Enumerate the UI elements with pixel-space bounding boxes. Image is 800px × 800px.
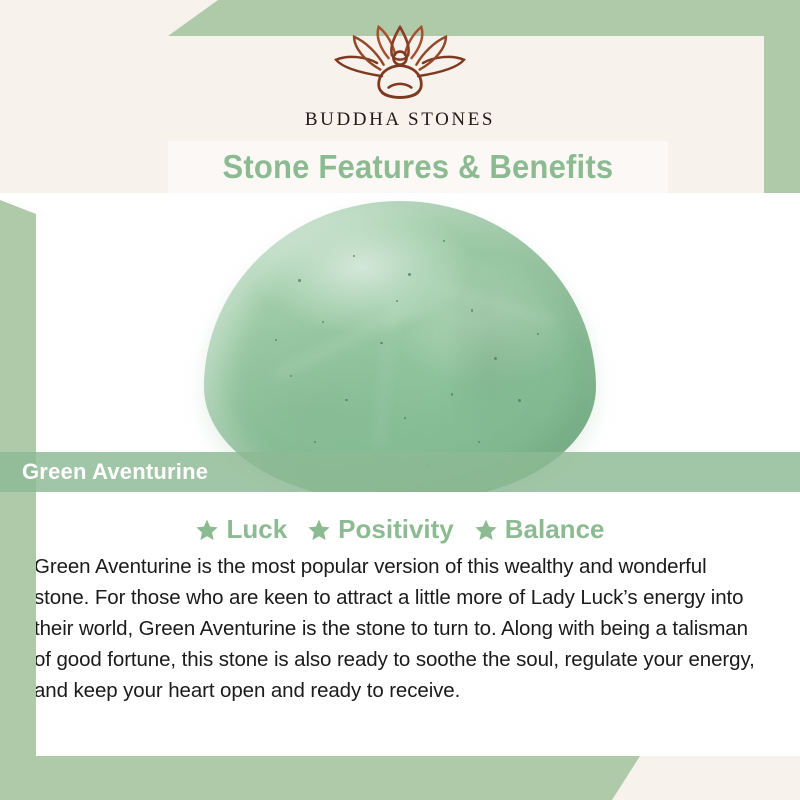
frame-bottom-bar	[0, 756, 640, 800]
star-icon	[307, 518, 331, 542]
description-paragraph: Green Aventurine is the most popular ver…	[34, 551, 766, 706]
benefit-item: Balance	[474, 514, 605, 545]
benefit-label: Balance	[505, 514, 605, 545]
stone-name-label: Green Aventurine	[22, 459, 208, 485]
benefit-item: Luck	[195, 514, 287, 545]
stone-photo	[0, 193, 800, 492]
brand-header: BUDDHA STONES	[0, 0, 800, 145]
frame-corner-notch	[764, 756, 800, 800]
title-banner: Stone Features & Benefits	[168, 141, 668, 193]
stone-speckles	[204, 201, 596, 492]
star-icon	[195, 518, 219, 542]
star-icon	[474, 518, 498, 542]
benefit-label: Luck	[226, 514, 287, 545]
green-aventurine-stone	[204, 201, 596, 492]
benefits-row: Luck Positivity Balance	[34, 492, 766, 551]
stone-label-bar: Green Aventurine	[0, 452, 800, 492]
brand-name: BUDDHA STONES	[305, 109, 495, 131]
lotus-meditation-figure-icon	[316, 22, 484, 104]
frame-left-lower-bar	[0, 492, 36, 800]
benefit-label: Positivity	[338, 514, 454, 545]
stone-image	[204, 201, 596, 492]
frame-left-bar	[0, 200, 36, 492]
benefit-item: Positivity	[307, 514, 454, 545]
content-panel: Luck Positivity Balance Green	[0, 492, 800, 756]
page-title: Stone Features & Benefits	[223, 148, 614, 186]
infographic-page: BUDDHA STONES Stone Features & Benefits	[0, 0, 800, 800]
